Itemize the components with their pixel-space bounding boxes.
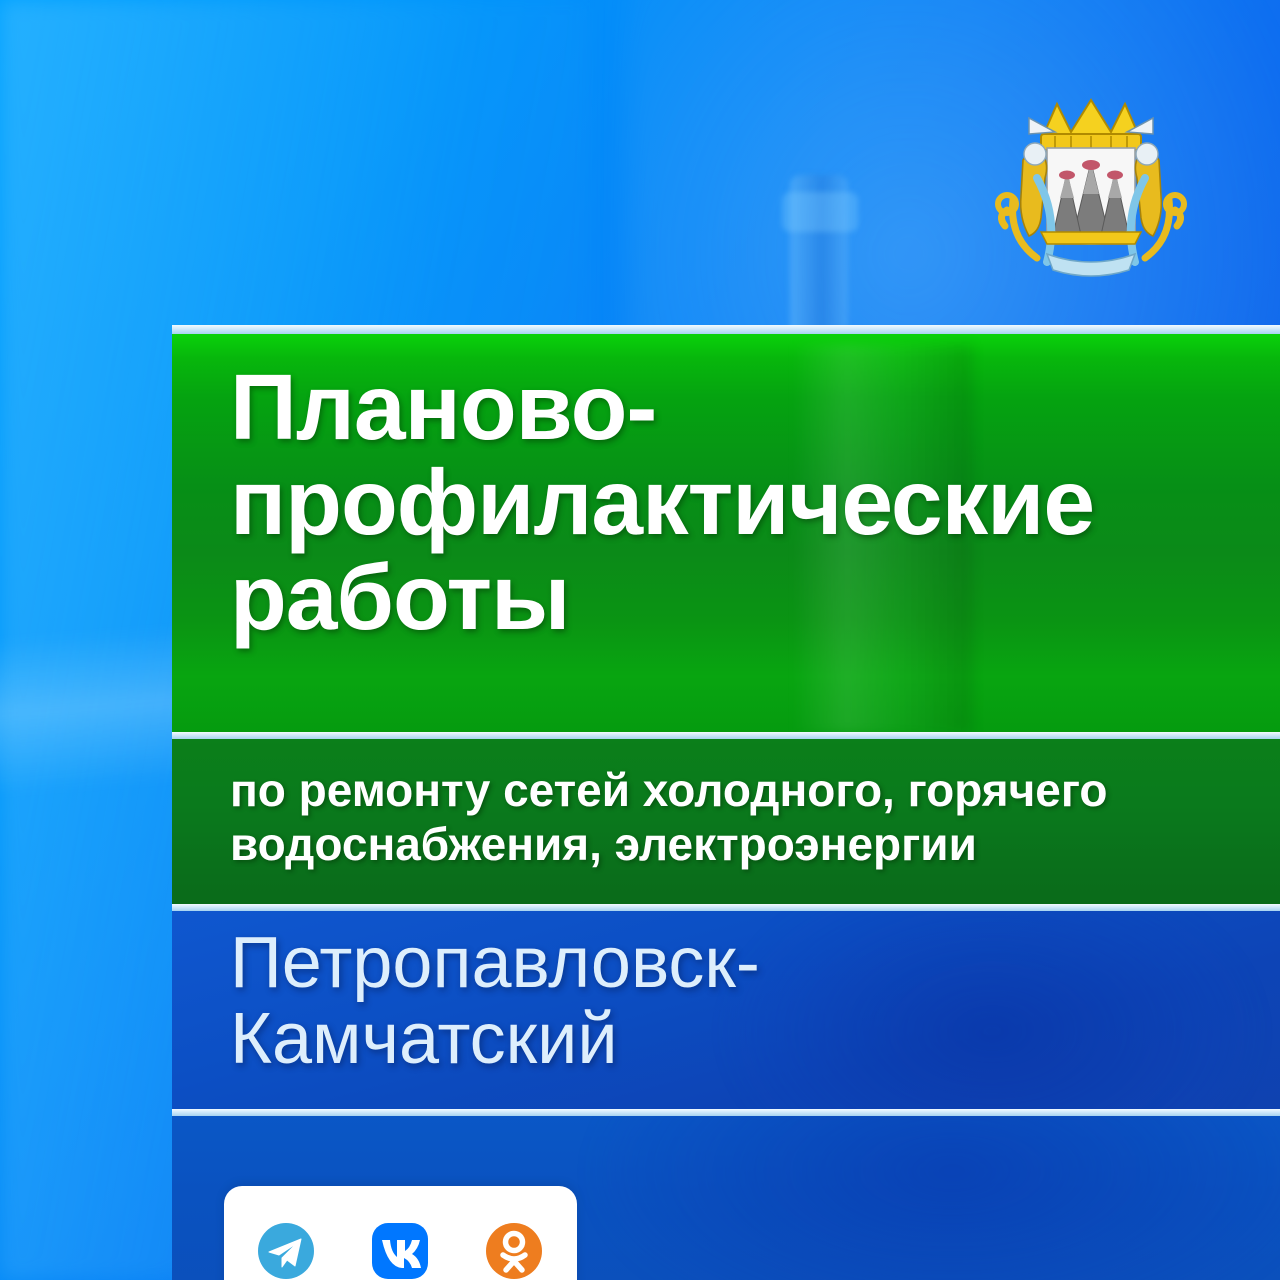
city-name: Петропавловск- Камчатский: [172, 911, 1280, 1078]
telegram-icon[interactable]: [256, 1221, 316, 1280]
faucet-cap-shape: [782, 192, 858, 232]
divider-between-heading-and-subheading: [172, 732, 1280, 739]
city-panel: Петропавловск- Камчатский: [172, 911, 1280, 1109]
footer-panel: [172, 1116, 1280, 1280]
social-links-card: [224, 1186, 577, 1280]
subheading-panel: по ремонту сетей холодного, горячего вод…: [172, 739, 1280, 904]
divider-top: [172, 325, 1280, 334]
odnoklassniki-icon[interactable]: [484, 1221, 544, 1280]
page-subtitle: по ремонту сетей холодного, горячего вод…: [172, 739, 1280, 872]
poster-root: Планово- профилактические работы по ремо…: [0, 0, 1280, 1280]
divider-below-city: [172, 1109, 1280, 1116]
content-panel-stack: Планово- профилактические работы по ремо…: [172, 325, 1280, 1280]
page-title: Планово- профилактические работы: [172, 334, 1280, 645]
vk-icon[interactable]: [370, 1221, 430, 1280]
coat-of-arms-icon: [985, 82, 1197, 294]
divider-between-subheading-and-city: [172, 904, 1280, 911]
heading-panel: Планово- профилактические работы: [172, 334, 1280, 732]
